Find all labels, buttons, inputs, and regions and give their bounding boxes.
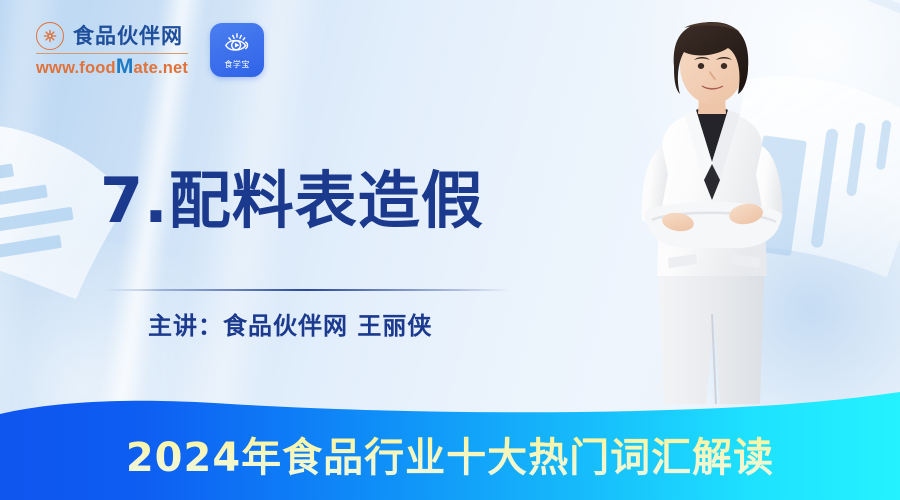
foodmate-url-m: M bbox=[116, 55, 134, 78]
slide-subtitle: 主讲：食品伙伴网 王丽侠 bbox=[148, 306, 432, 341]
foodmate-url-prefix: www.food bbox=[36, 59, 116, 77]
foodmate-url-suffix: ate.net bbox=[134, 59, 189, 77]
bottom-banner-text: 2024年食品行业十大热门词汇解读 bbox=[0, 392, 900, 500]
presenter-portrait bbox=[600, 14, 830, 404]
foodmate-url: www.foodMate.net bbox=[36, 56, 188, 78]
flower-mark-icon bbox=[36, 22, 64, 50]
shixuebao-logo[interactable]: 食学宝 bbox=[210, 23, 264, 77]
shixuebao-label: 食学宝 bbox=[224, 61, 250, 69]
foodmate-rule bbox=[36, 53, 188, 54]
slide-title: 7.配料表造假 bbox=[100, 168, 484, 233]
title-divider bbox=[104, 289, 510, 291]
logo-row: 食品伙伴网 www.foodMate.net 食学宝 bbox=[36, 22, 264, 78]
slide-canvas: 食品伙伴网 www.foodMate.net 食学宝 bbox=[0, 0, 900, 500]
foodmate-logo[interactable]: 食品伙伴网 www.foodMate.net bbox=[36, 22, 188, 78]
foodmate-cn-name: 食品伙伴网 bbox=[73, 26, 183, 47]
eye-play-icon bbox=[222, 31, 252, 60]
